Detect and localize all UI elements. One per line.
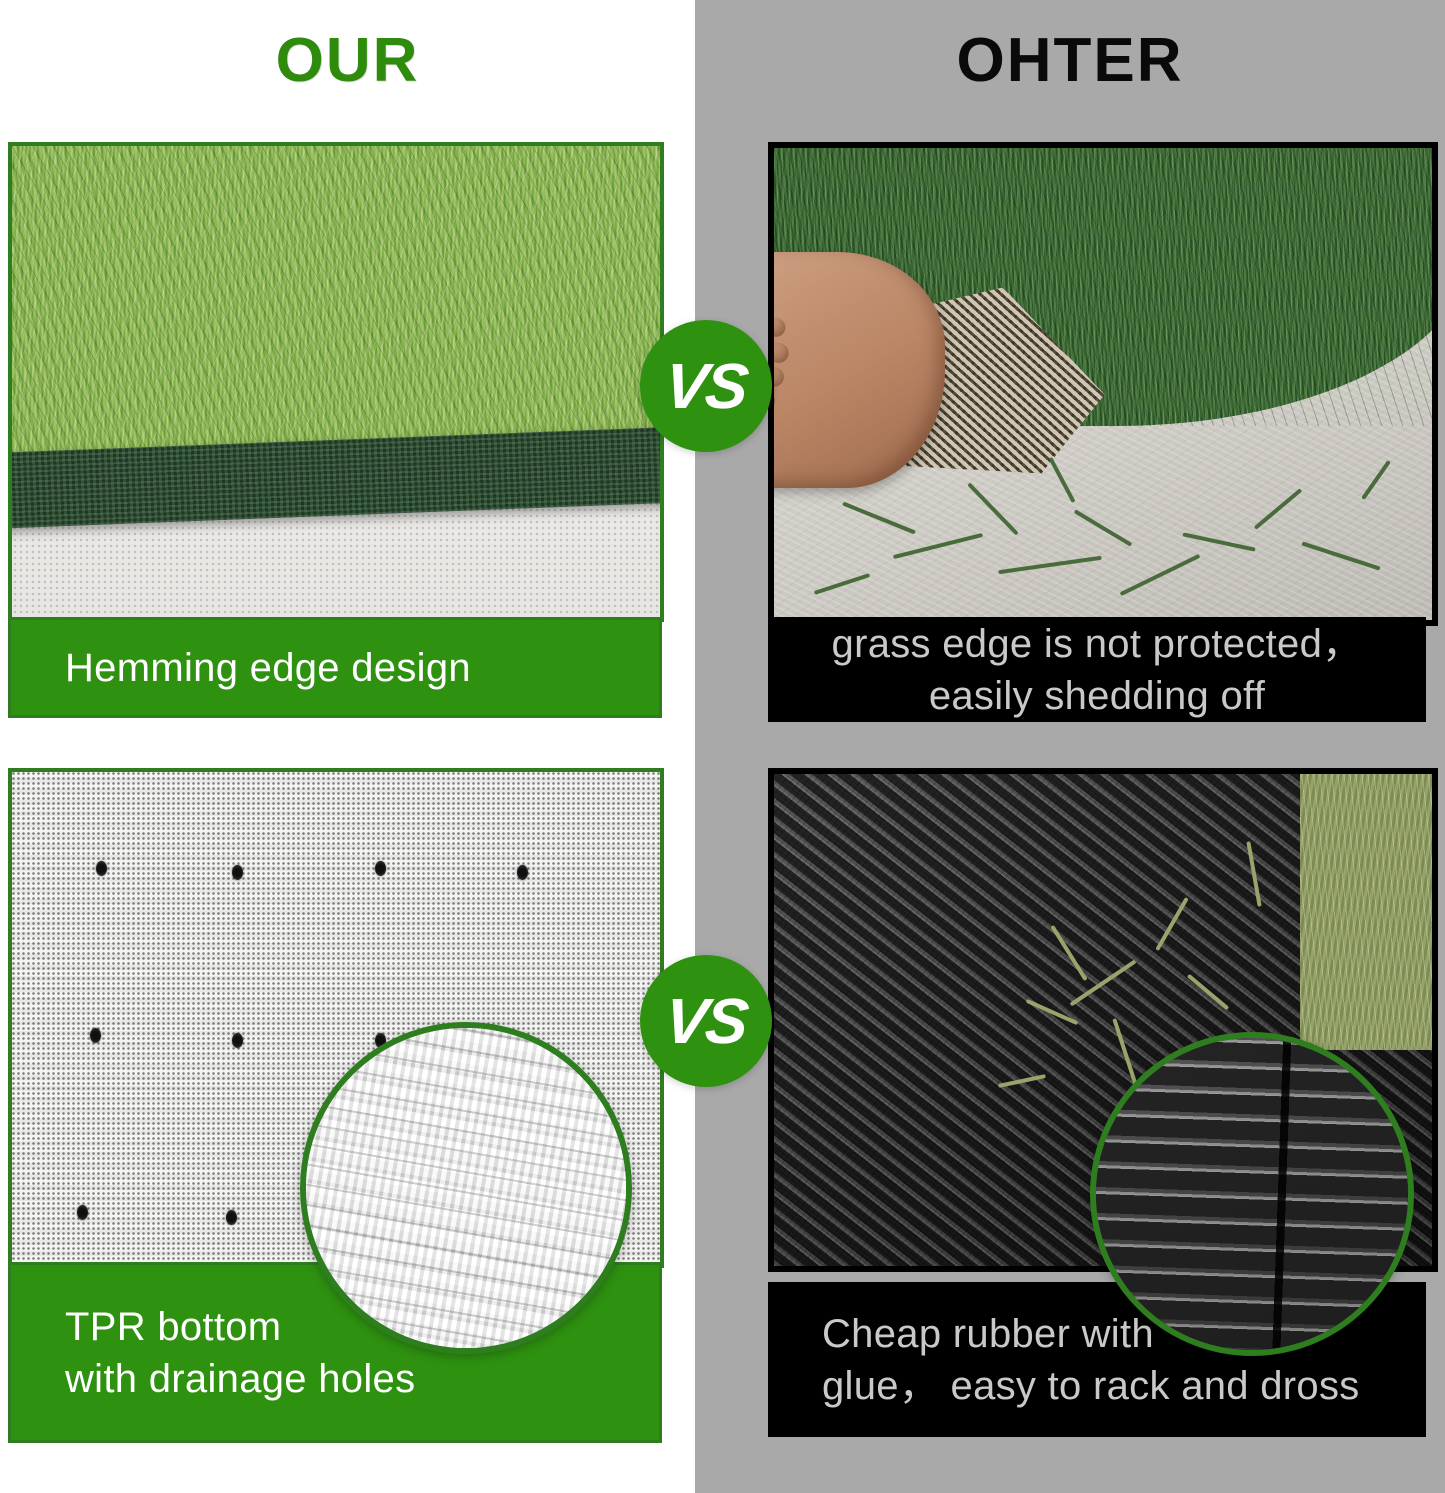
drainage-hole xyxy=(90,1028,101,1043)
our-hemming-edge-photo xyxy=(8,142,664,622)
photo-content-grass-hemmed-edge xyxy=(12,146,660,618)
photo-content-hand-lifting-turf xyxy=(774,148,1432,620)
vs-badge-top-label: VS xyxy=(662,354,750,418)
caption-other-row1-text: grass edge is not protected， easily shed… xyxy=(768,618,1426,722)
our-tpr-closeup-inset xyxy=(300,1022,632,1354)
drainage-hole xyxy=(77,1205,88,1220)
comparison-infographic: OUR OHTER Hemming edge design xyxy=(0,0,1445,1493)
caption-other-row1: grass edge is not protected， easily shed… xyxy=(768,617,1426,722)
finger-4 xyxy=(774,391,775,410)
vs-badge-bottom: VS xyxy=(640,955,772,1087)
finger-1 xyxy=(774,306,788,339)
header-other: OHTER xyxy=(695,30,1445,92)
drainage-hole xyxy=(375,861,386,876)
other-rubber-closeup-inset xyxy=(1090,1032,1414,1356)
drainage-hole xyxy=(226,1210,237,1225)
cracked-glue-closeup xyxy=(1096,1038,1408,1350)
header-our: OUR xyxy=(0,30,695,92)
vs-badge-bottom-label: VS xyxy=(662,989,750,1053)
tpr-waffle-closeup xyxy=(306,1028,626,1348)
vs-badge-top: VS xyxy=(640,320,772,452)
drainage-hole xyxy=(96,861,107,876)
grass-edge-strip xyxy=(1300,774,1432,1050)
finger-3 xyxy=(774,362,785,387)
other-unprotected-edge-photo xyxy=(768,142,1438,626)
finger-2 xyxy=(774,334,790,365)
caption-our-row1: Hemming edge design xyxy=(8,617,662,718)
caption-our-row1-text: Hemming edge design xyxy=(11,642,471,694)
